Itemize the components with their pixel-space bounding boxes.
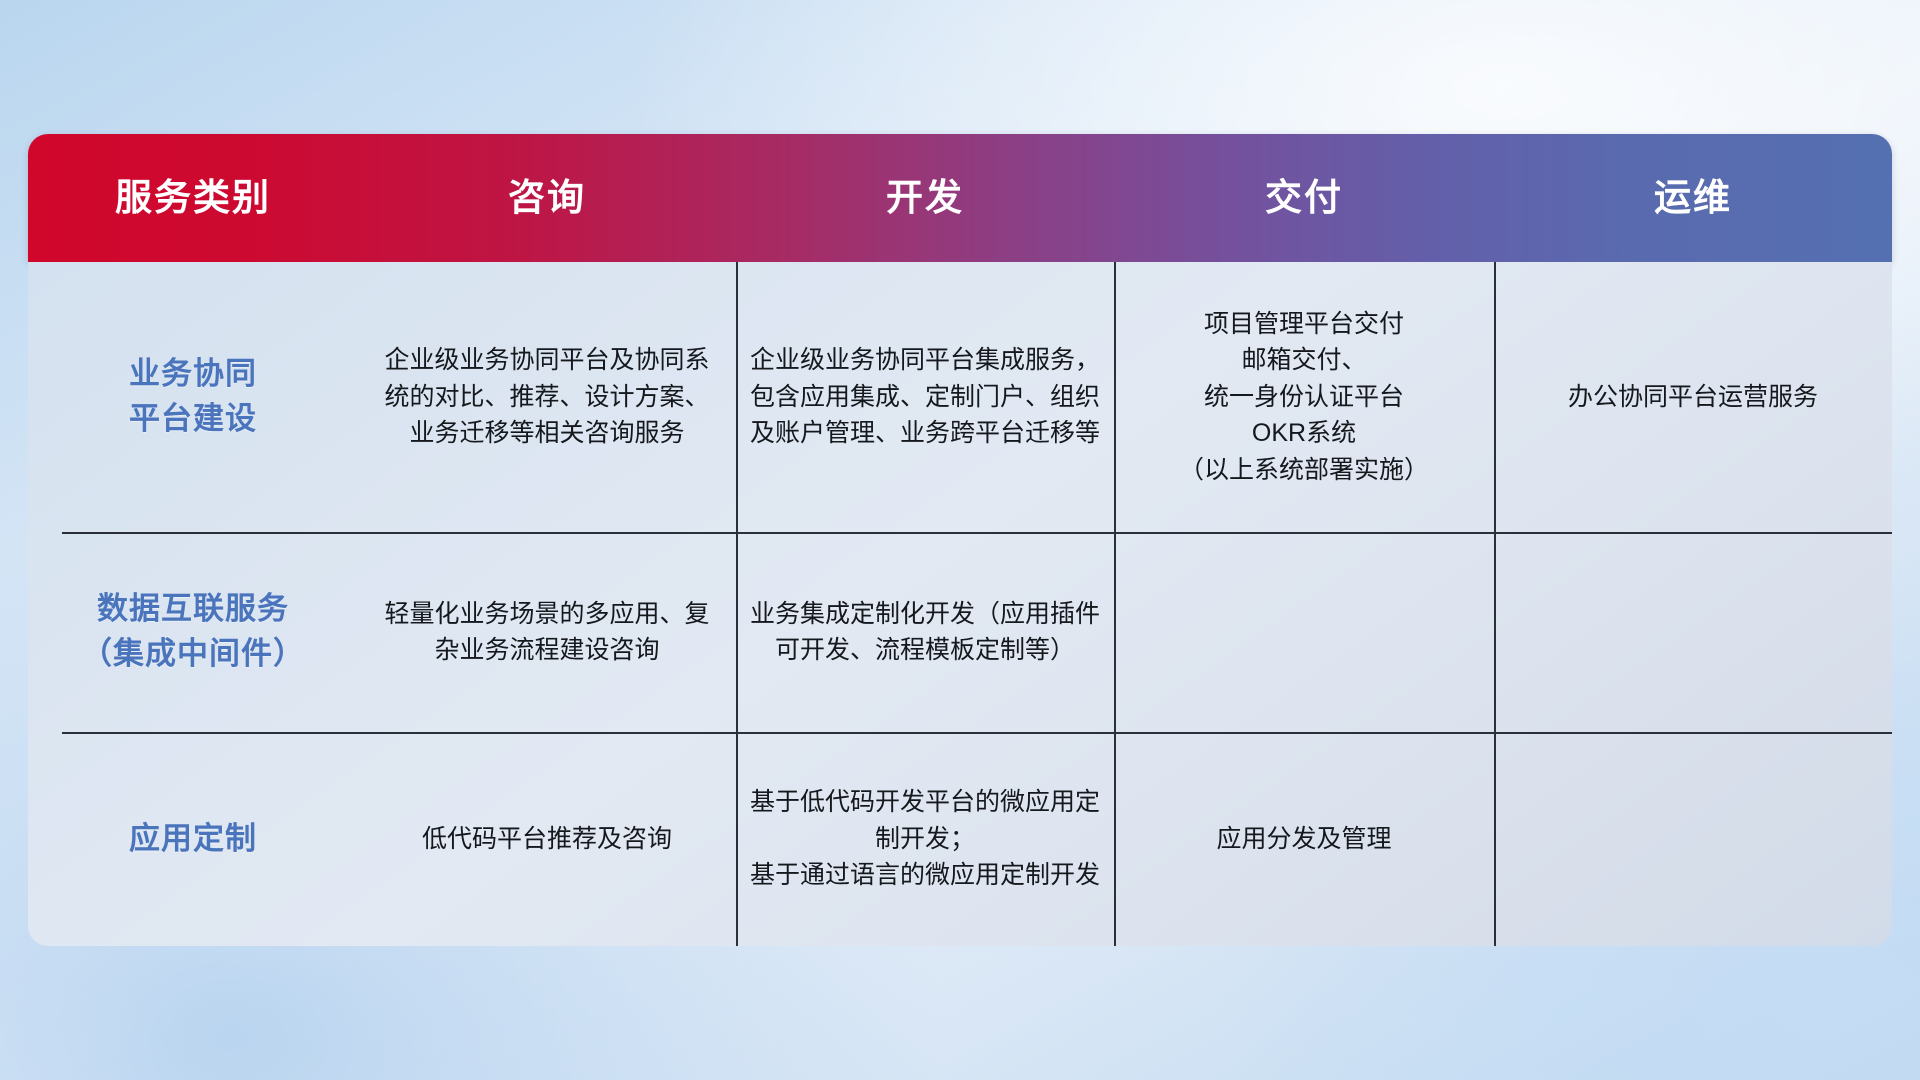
column-header-consulting: 咨询 bbox=[358, 134, 736, 262]
table-body: 业务协同 平台建设 企业级业务协同平台及协同系 统的对比、推荐、设计方案、 业务… bbox=[28, 262, 1892, 946]
table-row: 数据互联服务 （集成中间件） 轻量化业务场景的多应用、复 杂业务流程建设咨询 业… bbox=[28, 532, 1892, 732]
column-header-operations: 运维 bbox=[1494, 134, 1892, 262]
column-header-development: 开发 bbox=[736, 134, 1114, 262]
column-header-label: 开发 bbox=[886, 179, 964, 216]
column-header-label: 咨询 bbox=[508, 179, 586, 216]
cell-text: 基于低代码开发平台的微应用定 制开发； 基于通过语言的微应用定制开发 bbox=[750, 784, 1100, 894]
cell-development: 基于低代码开发平台的微应用定 制开发； 基于通过语言的微应用定制开发 bbox=[736, 732, 1114, 946]
cell-delivery: 项目管理平台交付 邮箱交付、 统一身份认证平台 OKR系统 （以上系统部署实施） bbox=[1114, 262, 1494, 532]
cell-development: 业务集成定制化开发（应用插件 可开发、流程模板定制等） bbox=[736, 532, 1114, 732]
slide-canvas: 服务类别 咨询 开发 交付 运维 业务协同 平台建设 bbox=[0, 0, 1920, 1080]
category-label: 应用定制 bbox=[129, 817, 257, 862]
cell-category: 业务协同 平台建设 bbox=[28, 262, 358, 532]
category-label: 业务协同 平台建设 bbox=[129, 352, 257, 442]
cell-consulting: 轻量化业务场景的多应用、复 杂业务流程建设咨询 bbox=[358, 532, 736, 732]
column-header-label: 运维 bbox=[1654, 179, 1732, 216]
service-matrix-table: 服务类别 咨询 开发 交付 运维 业务协同 平台建设 bbox=[28, 134, 1892, 946]
cell-text: 办公协同平台运营服务 bbox=[1568, 379, 1818, 416]
column-header-label: 服务类别 bbox=[115, 179, 271, 216]
table-header-row: 服务类别 咨询 开发 交付 运维 bbox=[28, 134, 1892, 262]
table-row: 应用定制 低代码平台推荐及咨询 基于低代码开发平台的微应用定 制开发； 基于通过… bbox=[28, 732, 1892, 946]
category-label: 数据互联服务 （集成中间件） bbox=[81, 587, 305, 677]
column-header-delivery: 交付 bbox=[1114, 134, 1494, 262]
cell-operations: 办公协同平台运营服务 bbox=[1494, 262, 1892, 532]
cell-delivery bbox=[1114, 532, 1494, 732]
cell-text: 项目管理平台交付 邮箱交付、 统一身份认证平台 OKR系统 （以上系统部署实施） bbox=[1179, 306, 1429, 489]
cell-text: 轻量化业务场景的多应用、复 杂业务流程建设咨询 bbox=[384, 596, 709, 669]
cell-category: 数据互联服务 （集成中间件） bbox=[28, 532, 358, 732]
table-row: 业务协同 平台建设 企业级业务协同平台及协同系 统的对比、推荐、设计方案、 业务… bbox=[28, 262, 1892, 532]
cell-text: 应用分发及管理 bbox=[1216, 821, 1391, 858]
cell-text: 低代码平台推荐及咨询 bbox=[422, 821, 672, 858]
cell-consulting: 企业级业务协同平台及协同系 统的对比、推荐、设计方案、 业务迁移等相关咨询服务 bbox=[358, 262, 736, 532]
cell-text: 业务集成定制化开发（应用插件 可开发、流程模板定制等） bbox=[750, 596, 1100, 669]
cell-operations bbox=[1494, 532, 1892, 732]
cell-consulting: 低代码平台推荐及咨询 bbox=[358, 732, 736, 946]
cell-delivery: 应用分发及管理 bbox=[1114, 732, 1494, 946]
cell-text: 企业级业务协同平台及协同系 统的对比、推荐、设计方案、 业务迁移等相关咨询服务 bbox=[384, 342, 709, 452]
cell-text: 企业级业务协同平台集成服务， 包含应用集成、定制门户、组织 及账户管理、业务跨平… bbox=[750, 342, 1100, 452]
cell-development: 企业级业务协同平台集成服务， 包含应用集成、定制门户、组织 及账户管理、业务跨平… bbox=[736, 262, 1114, 532]
column-header-service-category: 服务类别 bbox=[28, 134, 358, 262]
cell-operations bbox=[1494, 732, 1892, 946]
cell-category: 应用定制 bbox=[28, 732, 358, 946]
column-header-label: 交付 bbox=[1265, 179, 1343, 216]
